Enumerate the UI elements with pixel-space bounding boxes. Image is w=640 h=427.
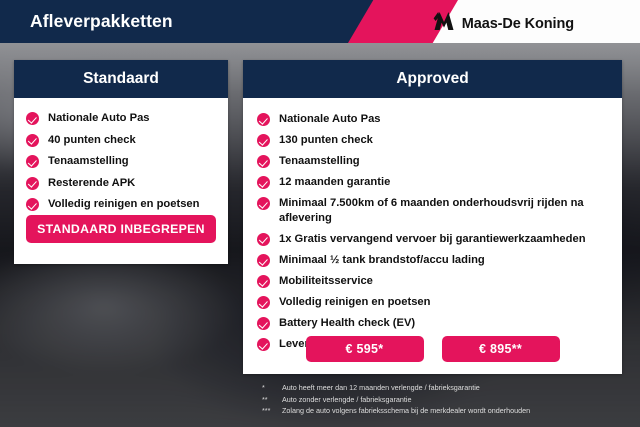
brand-logo: Maas-De Koning [433,11,574,36]
check-circle-icon [257,176,270,189]
list-item: Battery Health check (EV) [257,316,608,331]
brand-name: Maas-De Koning [462,16,574,32]
page-header: Afleverpakketten Maas-De Koning [0,0,640,43]
footnote-triple-star: *** Zolang de auto volgens fabrieksschem… [262,405,632,417]
package-card-standaard: Standaard Nationale Auto Pas 40 punten c… [14,60,228,264]
check-circle-icon [26,134,39,147]
maas-de-koning-m-mark-icon [433,11,455,36]
feature-label: Mobiliteitsservice [279,274,608,289]
footnote-marker: * [262,382,276,394]
feature-label: Tenaamstelling [48,154,216,169]
footnote-marker: *** [262,405,276,417]
check-circle-icon [257,296,270,309]
feature-label: Minimaal 7.500km of 6 maanden onderhouds… [279,196,608,225]
feature-list-standaard: Nationale Auto Pas 40 punten check Tenaa… [26,111,216,212]
feature-label: Nationale Auto Pas [279,112,608,127]
list-item: Tenaamstelling [26,154,216,169]
footnote-text: Auto heeft meer dan 12 maanden verlengde… [282,382,480,394]
footnote-text: Zolang de auto volgens fabrieksschema bi… [282,405,530,417]
price-button-row: € 595* € 895** [243,336,622,362]
list-item: Volledig reinigen en poetsen [257,295,608,310]
slide-root: Afleverpakketten Maas-De Koning Standaar… [0,0,640,427]
card-body-standaard: Nationale Auto Pas 40 punten check Tenaa… [14,98,228,212]
feature-label: Volledig reinigen en poetsen [48,197,216,212]
feature-label: 12 maanden garantie [279,175,608,190]
list-item: Volledig reinigen en poetsen [26,197,216,212]
feature-label: 1x Gratis vervangend vervoer bij garanti… [279,232,608,247]
price-button-895[interactable]: € 895** [442,336,560,362]
feature-label: Resterende APK [48,176,216,191]
check-circle-icon [26,198,39,211]
footnote-single-star: * Auto heeft meer dan 12 maanden verleng… [262,382,632,394]
check-circle-icon [26,155,39,168]
list-item: Tenaamstelling [257,154,608,169]
page-title: Afleverpakketten [30,11,173,32]
check-circle-icon [257,317,270,330]
feature-label: Volledig reinigen en poetsen [279,295,608,310]
footnote-text: Auto zonder verlengde / fabrieksgarantie [282,394,411,406]
check-circle-icon [257,113,270,126]
check-circle-icon [257,155,270,168]
list-item: Nationale Auto Pas [257,112,608,127]
feature-label: Nationale Auto Pas [48,111,216,126]
feature-label: Tenaamstelling [279,154,608,169]
list-item: 130 punten check [257,133,608,148]
check-circle-icon [257,197,270,210]
feature-label: 40 punten check [48,133,216,148]
package-card-approved: Approved Nationale Auto Pas 130 punten c… [243,60,622,374]
feature-list-approved: Nationale Auto Pas 130 punten check Tena… [257,112,608,352]
list-item: Resterende APK [26,176,216,191]
check-circle-icon [257,233,270,246]
list-item: 40 punten check [26,133,216,148]
check-circle-icon [257,275,270,288]
list-item: Nationale Auto Pas [26,111,216,126]
feature-label: Minimaal ½ tank brandstof/accu lading [279,253,608,268]
price-button-595[interactable]: € 595* [306,336,424,362]
check-circle-icon [26,112,39,125]
check-circle-icon [257,254,270,267]
card-title-standaard: Standaard [14,60,228,98]
card-title-approved: Approved [243,60,622,98]
check-circle-icon [26,177,39,190]
list-item: Minimaal ½ tank brandstof/accu lading [257,253,608,268]
footnotes-block: * Auto heeft meer dan 12 maanden verleng… [262,382,632,417]
list-item: Minimaal 7.500km of 6 maanden onderhouds… [257,196,608,225]
list-item: 12 maanden garantie [257,175,608,190]
feature-label: Battery Health check (EV) [279,316,608,331]
footnote-marker: ** [262,394,276,406]
card-body-approved: Nationale Auto Pas 130 punten check Tena… [243,98,622,352]
check-circle-icon [257,134,270,147]
list-item: Mobiliteitsservice [257,274,608,289]
list-item: 1x Gratis vervangend vervoer bij garanti… [257,232,608,247]
standaard-inbegrepen-button[interactable]: STANDAARD INBEGREPEN [26,215,216,243]
footnote-double-star: ** Auto zonder verlengde / fabrieksgaran… [262,394,632,406]
feature-label: 130 punten check [279,133,608,148]
